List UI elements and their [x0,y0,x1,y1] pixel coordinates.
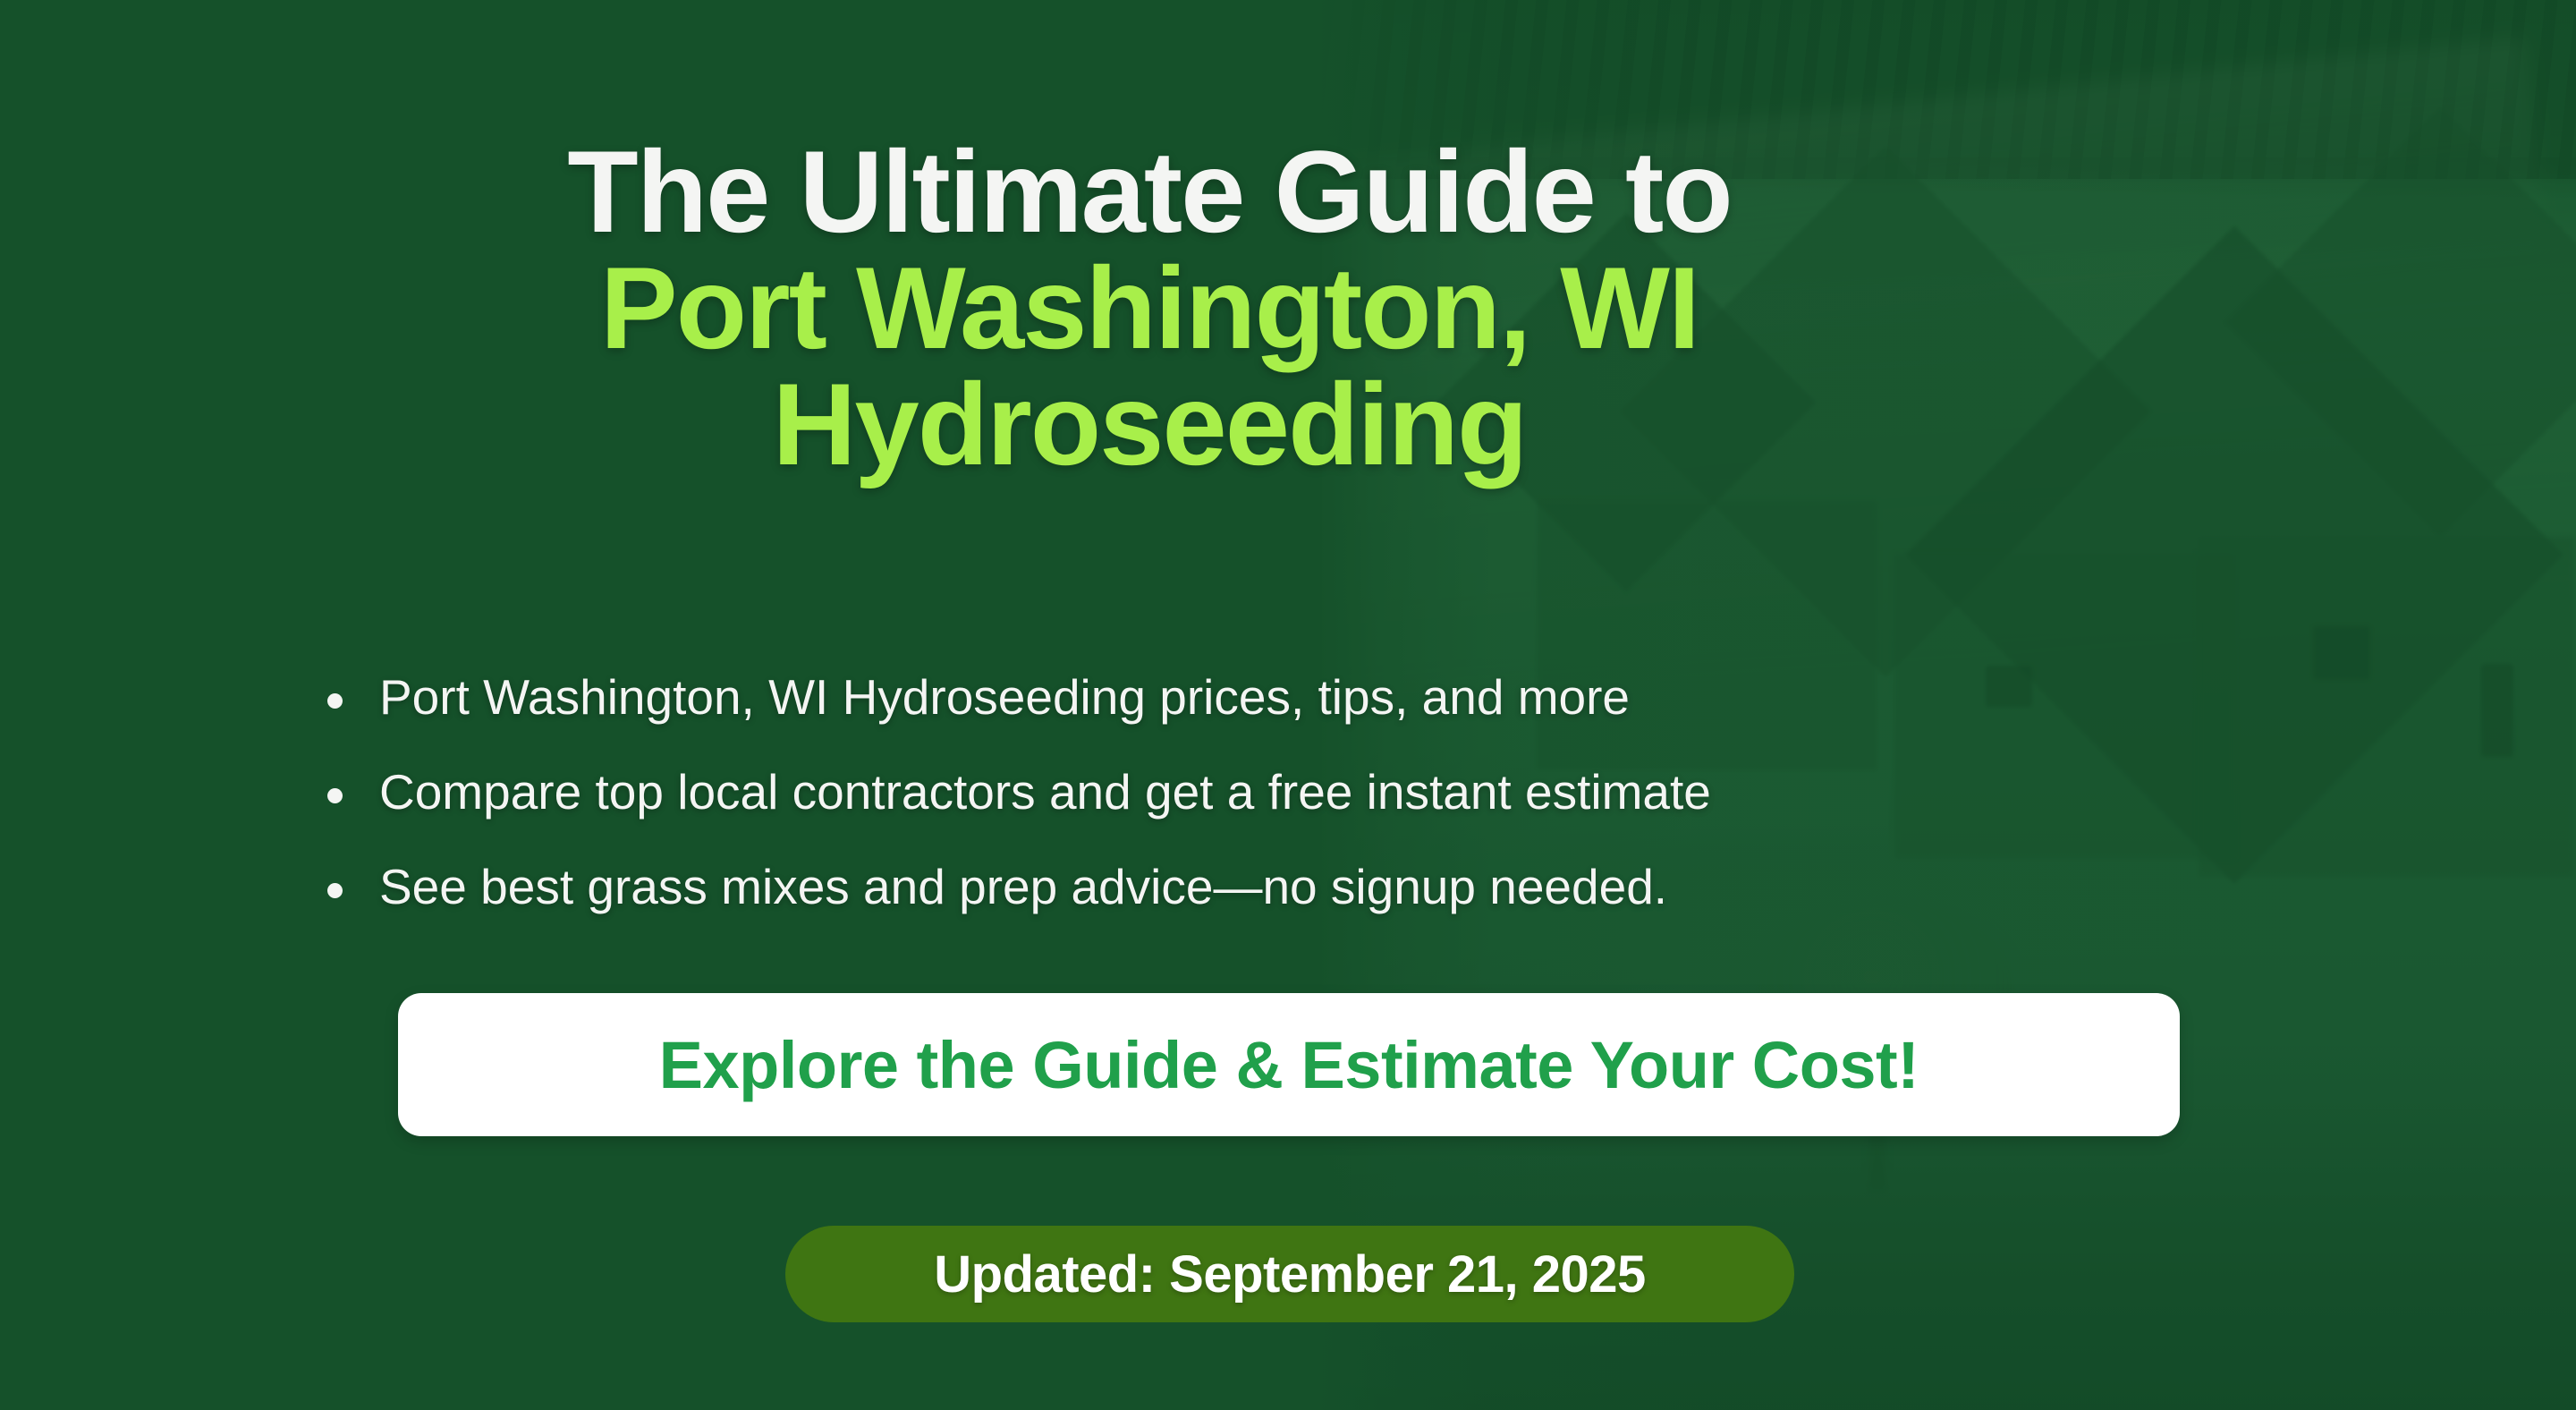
hero-content: The Ultimate Guide to Port Washington, W… [0,0,2576,1410]
bullet-dot-icon [327,883,343,898]
list-item: See best grass mixes and prep advice—no … [315,862,2211,912]
list-item-label: Compare top local contractors and get a … [379,764,1711,820]
list-item: Port Washington, WI Hydroseeding prices,… [315,673,2211,722]
explore-guide-cta-button[interactable]: Explore the Guide & Estimate Your Cost! [398,993,2180,1136]
page-title: The Ultimate Guide to Port Washington, W… [0,133,2299,482]
list-item-label: See best grass mixes and prep advice—no … [379,859,1667,914]
list-item: Compare top local contractors and get a … [315,768,2211,817]
title-line-3: Hydroseeding [0,366,2299,482]
hero-banner: The Ultimate Guide to Port Washington, W… [0,0,2576,1410]
list-item-label: Port Washington, WI Hydroseeding prices,… [379,669,1630,725]
bullet-dot-icon [327,693,343,709]
updated-date-badge: Updated: September 21, 2025 [785,1226,1794,1322]
title-line-1: The Ultimate Guide to [0,133,2299,250]
title-line-2: Port Washington, WI [0,250,2299,366]
benefit-list: Port Washington, WI Hydroseeding prices,… [315,673,2211,957]
bullet-dot-icon [327,788,343,803]
